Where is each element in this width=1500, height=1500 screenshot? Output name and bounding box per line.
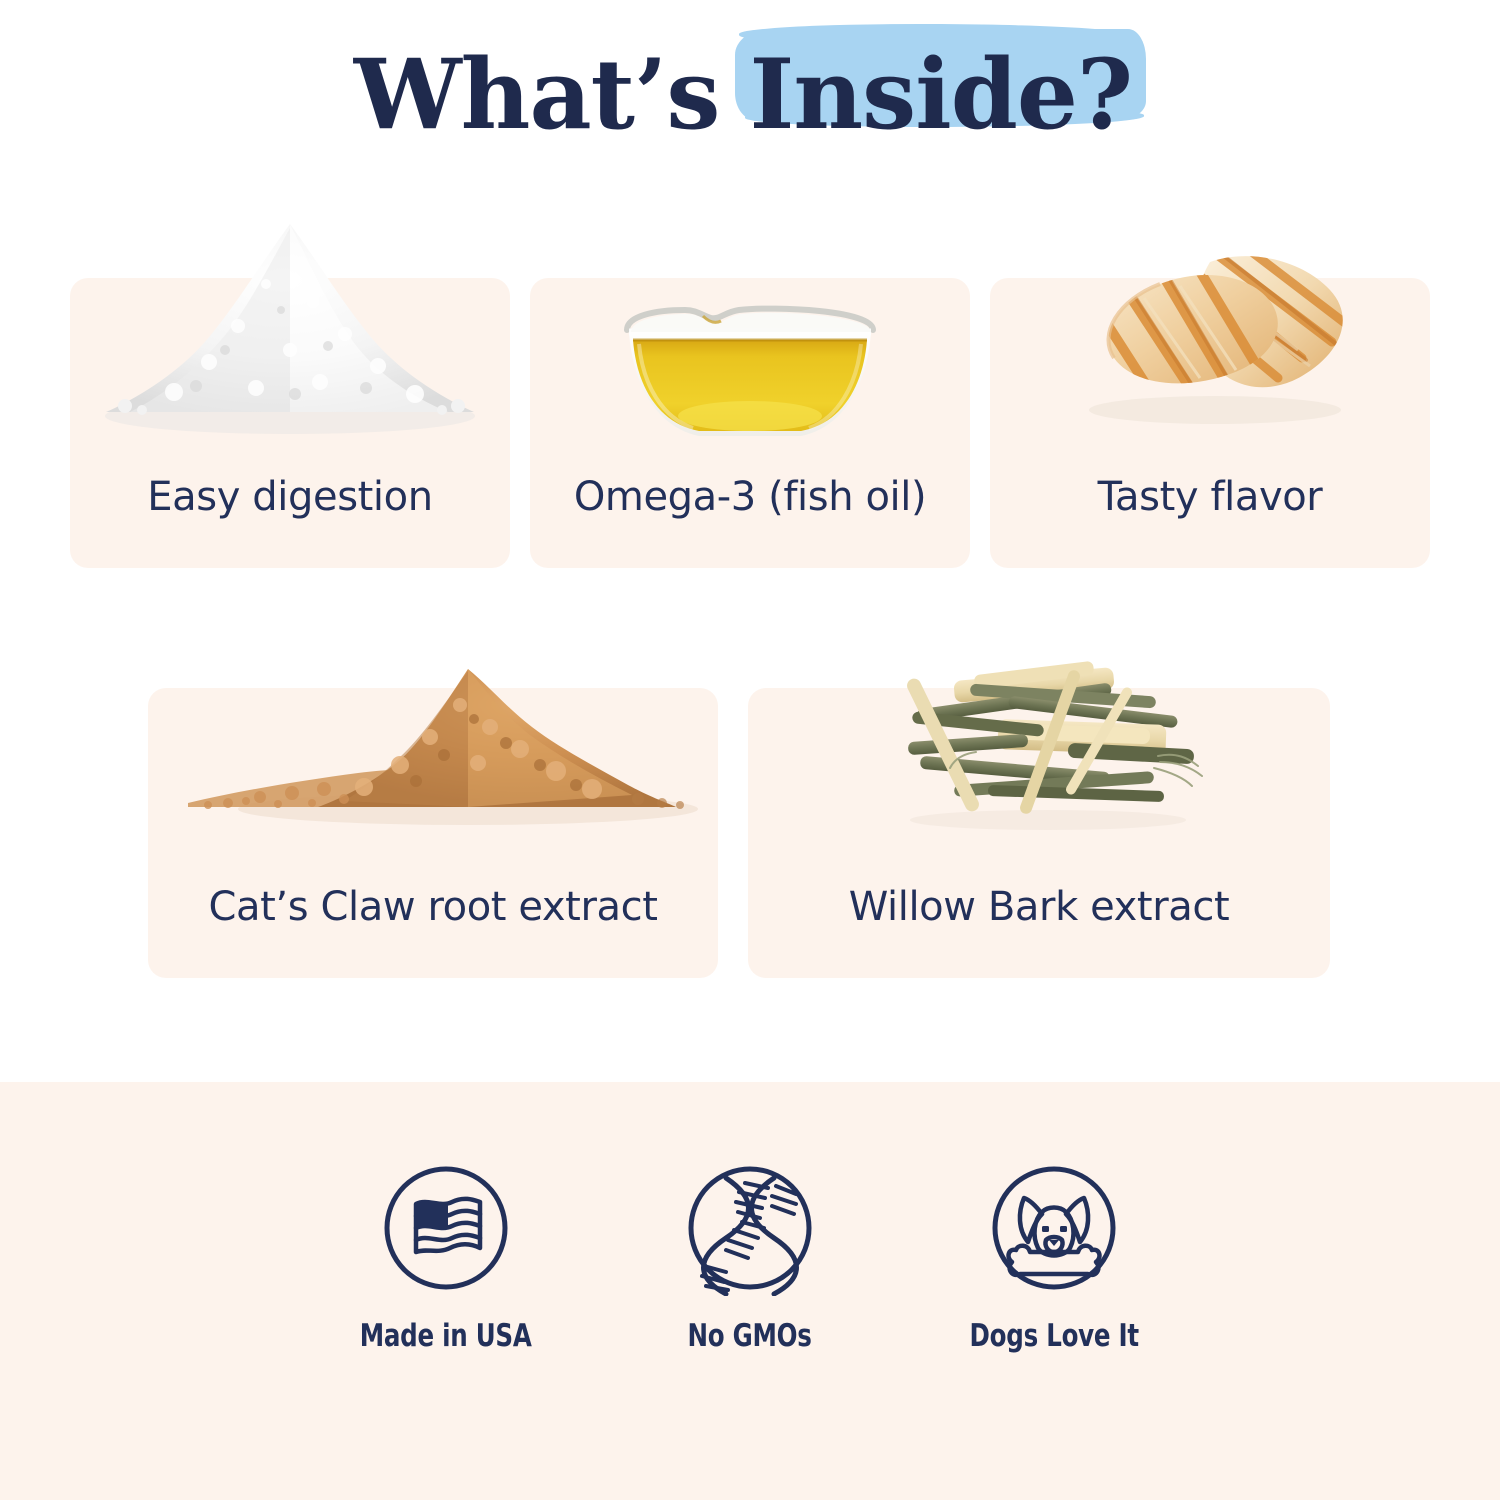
white-powder-pile-icon [70,210,510,460]
trust-badge-label: Made in USA [360,1318,532,1354]
ingredient-card-label: Cat’s Claw root extract [148,884,718,930]
oil-bowl-icon [615,296,885,446]
ingredient-card-label: Tasty flavor [990,474,1430,520]
brown-powder-pile-icon [168,653,708,843]
trust-badge-dogs-love-it[interactable]: Dogs Love It [964,1160,1144,1354]
ingredient-card-cats-claw[interactable]: Cat’s Claw root extract [148,688,718,978]
ingredient-card-label: Willow Bark extract [748,884,1330,930]
trust-badge-row: Made in USA [0,1160,1500,1354]
ingredient-card-omega-3[interactable]: Omega-3 (fish oil) [530,278,970,568]
page-header: What’s Inside? [0,0,1500,190]
page-title-highlight-label: Inside? [749,38,1132,151]
ingredient-card-easy-digestion[interactable]: Easy digestion [70,278,510,568]
dna-helix-icon [682,1160,818,1296]
trust-badge-label: Dogs Love It [969,1318,1138,1354]
trust-badge-made-in-usa[interactable]: Made in USA [356,1160,536,1354]
page-title: What’s Inside? [354,47,1146,143]
dog-with-bone-icon [986,1160,1122,1296]
ingredient-card-label: Omega-3 (fish oil) [530,474,970,520]
page-title-highlight: Inside? [735,47,1146,143]
trust-badge-label: No GMOs [688,1318,812,1354]
usa-flag-icon [378,1160,514,1296]
ingredient-card-willow-bark[interactable]: Willow Bark extract [748,688,1330,978]
willow-bark-sticks-icon [858,660,1238,850]
trust-badge-no-gmos[interactable]: No GMOs [660,1160,840,1354]
trust-badge-band: Made in USA [0,1082,1500,1500]
page-title-plain: What’s [354,47,720,143]
grilled-chicken-icon [1040,238,1390,468]
ingredient-card-tasty-flavor[interactable]: Tasty flavor [990,278,1430,568]
ingredient-card-label: Easy digestion [70,474,510,520]
